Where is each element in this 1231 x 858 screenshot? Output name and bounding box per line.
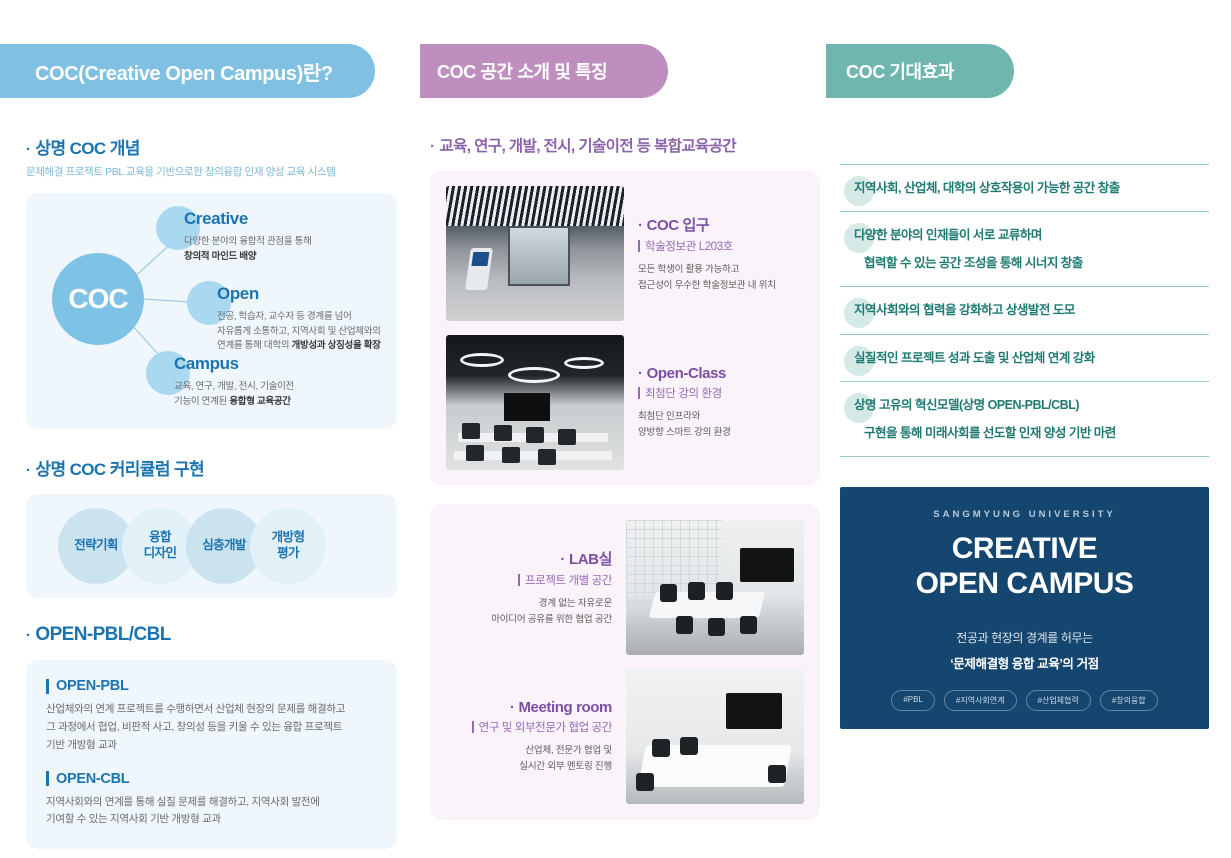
bullet-icon: ·: [510, 699, 515, 716]
meeting-subtitle-row: 연구 및 외부전문가 협업 공간: [446, 719, 612, 735]
ring-light: [508, 367, 560, 383]
promo-subtitle-line2: ‘문제해결형 융합 교육’의 거점: [950, 653, 1099, 672]
chair: [740, 616, 757, 634]
entrance-caption: · COC 입구 학술정보관 L203호 모든 학생이 활용 가능하고 접근성이…: [638, 214, 804, 293]
display-screen: [740, 548, 794, 582]
lab-title: LAB실: [569, 548, 612, 569]
open-class-subtitle: 최첨단 강의 환경: [645, 385, 722, 401]
curriculum-circle-4: 개방형평가: [250, 508, 326, 584]
open-desc-line3-prefix: 연계를 통해 대학의: [217, 340, 292, 351]
chair: [716, 582, 733, 600]
lab-desc: 경계 없는 자유로운 아이디어 공유를 위한 협업 공간: [446, 596, 612, 627]
curriculum-label-2: 융합디자인: [144, 530, 177, 561]
space-item-open-class: · Open-Class 최첨단 강의 환경 최첨단 인프라와 양방향 스마트 …: [446, 335, 804, 470]
curriculum-section-title: · 상명 COC 커리큘럼 구현: [26, 455, 397, 480]
meeting-subtitle: 연구 및 외부전문가 협업 공간: [479, 719, 612, 735]
middle-column-body: · 교육, 연구, 개발, 전시, 기술이전 등 복합교육공간 · COC 입구: [420, 134, 820, 820]
effect-line: 구현을 통해 미래사회를 선도할 인재 양성 기반 마련: [854, 424, 1203, 442]
pbl-title-text: OPEN-PBL/CBL: [35, 624, 170, 646]
vertical-bar-icon: [46, 771, 49, 786]
lab-desc-line1: 경계 없는 자유로운: [539, 598, 612, 609]
promo-title: CREATIVE OPEN CAMPUS: [916, 532, 1134, 602]
space-section-title-text: 교육, 연구, 개발, 전시, 기술이전 등 복합교육공간: [439, 134, 736, 156]
campus-desc-line1: 교육, 연구, 개발, 전시, 기술이전: [174, 381, 294, 392]
vertical-bar-icon: [638, 387, 640, 399]
promo-university-name: SANGMYUNG UNIVERSITY: [933, 509, 1115, 520]
chair: [660, 584, 677, 602]
open-desc-line3-bold: 개방성과 상징성을 확장: [292, 340, 381, 351]
ring-light: [564, 357, 604, 369]
pbl-card: OPEN-PBL 산업체와의 연계 프로젝트를 수행하면서 산업체 현장의 문제…: [26, 660, 397, 849]
open-class-photo: [446, 335, 624, 470]
glass-door: [508, 226, 570, 286]
promo-card: SANGMYUNG UNIVERSITY CREATIVE OPEN CAMPU…: [840, 487, 1209, 729]
open-desc-line2: 자유롭게 소통하고, 지역사회 및 산업체와의: [217, 326, 381, 337]
chair: [466, 445, 484, 461]
open-class-caption: · Open-Class 최첨단 강의 환경 최첨단 인프라와 양방향 스마트 …: [638, 365, 804, 440]
vertical-bar-icon: [638, 240, 640, 252]
chair: [688, 582, 705, 600]
effect-line: 지역사회, 산업체, 대학의 상호작용이 가능한 공간 창출: [854, 179, 1203, 197]
concept-diagram-card: COC Creative 다양한 분야의 융합적 관점을 통해 창의적 마인드 …: [26, 193, 397, 429]
space-card-1: · COC 입구 학술정보관 L203호 모든 학생이 활용 가능하고 접근성이…: [430, 170, 820, 486]
vertical-bar-icon: [46, 679, 49, 694]
pbl-block-2-title: OPEN-CBL: [56, 771, 129, 787]
effect-line: 상명 고유의 혁신모델(상명 OPEN-PBL/CBL): [854, 396, 1203, 414]
effect-item: 지역사회, 산업체, 대학의 상호작용이 가능한 공간 창출: [840, 165, 1209, 212]
pbl-b1-line1: 산업체와의 연계 프로젝트를 수행하면서 산업체 현장의 문제를 해결하고: [46, 703, 345, 715]
pbl-block-1-heading: OPEN-PBL: [46, 678, 377, 694]
bullet-icon: ·: [638, 365, 643, 382]
chair: [768, 765, 786, 783]
pbl-b1-line2: 그 과정에서 협업, 비판적 사고, 창의성 등을 키울 수 있는 융합 프로젝…: [46, 721, 342, 733]
entrance-title-row: · COC 입구: [638, 214, 804, 235]
pbl-block-1-title: OPEN-PBL: [56, 678, 129, 694]
meeting-room-photo: [626, 669, 804, 804]
promo-title-line2: OPEN CAMPUS: [916, 567, 1134, 600]
chair: [676, 616, 693, 634]
bullet-icon: ·: [430, 139, 434, 154]
entrance-title: COC 입구: [647, 214, 710, 235]
effect-item: 다양한 분야의 인재들이 서로 교류하며 협력할 수 있는 공간 조성을 통해 …: [840, 212, 1209, 287]
column-left: COC(Creative Open Campus)란? · 상명 COC 개념 …: [0, 0, 415, 858]
effect-line: 다양한 분야의 인재들이 서로 교류하며: [854, 226, 1203, 244]
expected-effects-list: 지역사회, 산업체, 대학의 상호작용이 가능한 공간 창출 다양한 분야의 인…: [840, 164, 1209, 457]
effect-item: 지역사회와의 협력을 강화하고 상생발전 도모: [840, 287, 1209, 334]
pbl-block-2: OPEN-CBL 지역사회와의 연계를 통해 실질 문제를 해결하고, 지역사회…: [46, 771, 377, 830]
bullet-icon: ·: [26, 142, 30, 157]
effect-line: 실질적인 프로젝트 성과 도출 및 산업체 연계 강화: [854, 349, 1203, 367]
chair: [502, 447, 520, 463]
entrance-desc: 모든 학생이 활용 가능하고 접근성이 우수한 학술정보관 내 위치: [638, 262, 804, 293]
infographic-page: COC(Creative Open Campus)란? · 상명 COC 개념 …: [0, 0, 1231, 858]
promo-title-line1: CREATIVE: [952, 532, 1097, 565]
pbl-block-2-text: 지역사회와의 연계를 통해 실질 문제를 해결하고, 지역사회 발전에 기여할 …: [46, 794, 377, 830]
open-node-label: Open: [217, 284, 259, 304]
curriculum-label-4: 개방형평가: [272, 530, 305, 561]
promo-tag: #창의융합: [1100, 690, 1158, 711]
space-item-entrance: · COC 입구 학술정보관 L203호 모든 학생이 활용 가능하고 접근성이…: [446, 186, 804, 321]
curriculum-title-text: 상명 COC 커리큘럼 구현: [35, 455, 204, 480]
pbl-b1-line3: 기반 개방형 교과: [46, 739, 117, 751]
open-class-desc: 최첨단 인프라와 양방향 스마트 강의 환경: [638, 409, 804, 440]
effect-line: 협력할 수 있는 공간 조성을 통해 시너지 창출: [854, 254, 1203, 272]
lab-room-photo: [626, 520, 804, 655]
pbl-block-1-text: 산업체와의 연계 프로젝트를 수행하면서 산업체 현장의 문제를 해결하고 그 …: [46, 701, 377, 755]
spacer: [446, 321, 804, 335]
entrance-subtitle-row: 학술정보관 L203호: [638, 238, 804, 254]
coc-venn-diagram: COC Creative 다양한 분야의 융합적 관점을 통해 창의적 마인드 …: [26, 193, 397, 429]
ceiling-slats: [446, 186, 624, 226]
bullet-icon: ·: [638, 217, 643, 234]
chair: [558, 429, 576, 445]
chair: [494, 425, 512, 441]
promo-tag: #산업체협력: [1026, 690, 1091, 711]
open-desc-line1: 전공, 학습자, 교수자 등 경계를 넘어: [217, 311, 352, 322]
creative-desc-line1: 다양한 분야의 융합적 관점을 통해: [184, 236, 312, 247]
vertical-bar-icon: [518, 574, 520, 586]
lab-caption: · LAB실 프로젝트 개별 공간 경계 없는 자유로운 아이디어 공유를 위한…: [446, 548, 612, 627]
concept-subtitle: 문제해결 프로젝트 PBL 교육을 기반으로한 창의융합 인재 양성 교육 시스…: [26, 164, 397, 179]
spacer: [46, 755, 377, 771]
left-column-header: COC(Creative Open Campus)란?: [0, 44, 375, 98]
chair: [708, 618, 725, 636]
open-class-subtitle-row: 최첨단 강의 환경: [638, 385, 804, 401]
left-column-body: · 상명 COC 개념 문제해결 프로젝트 PBL 교육을 기반으로한 창의융합…: [0, 134, 415, 849]
pbl-b2-line1: 지역사회와의 연계를 통해 실질 문제를 해결하고, 지역사회 발전에: [46, 796, 320, 808]
kiosk: [465, 248, 493, 290]
meeting-title-row: · Meeting room: [446, 699, 612, 716]
bullet-icon: ·: [560, 551, 565, 568]
open-class-title: Open-Class: [647, 365, 726, 382]
display-screen: [504, 393, 550, 421]
bullet-icon: ·: [26, 463, 30, 478]
column-middle: COC 공간 소개 및 특징 · 교육, 연구, 개발, 전시, 기술이전 등 …: [420, 0, 820, 858]
meeting-title: Meeting room: [518, 699, 612, 716]
promo-subtitle-line1: 전공과 현장의 경계를 허무는: [956, 629, 1092, 646]
promo-tag-list: #PBL #지역사회연계 #산업체협력 #창의융합: [891, 690, 1157, 711]
space-item-lab: · LAB실 프로젝트 개별 공간 경계 없는 자유로운 아이디어 공유를 위한…: [446, 520, 804, 655]
column-right: COC 기대효과 지역사회, 산업체, 대학의 상호작용이 가능한 공간 창출 …: [826, 0, 1231, 858]
campus-desc-line2-prefix: 기능이 연계된: [174, 396, 229, 407]
creative-desc-line2: 창의적 마인드 배양: [184, 251, 256, 262]
open-node-desc: 전공, 학습자, 교수자 등 경계를 넘어 자유롭게 소통하고, 지역사회 및 …: [217, 310, 381, 354]
pbl-block-2-heading: OPEN-CBL: [46, 771, 377, 787]
vertical-bar-icon: [472, 721, 474, 733]
middle-column-header: COC 공간 소개 및 특징: [420, 44, 668, 98]
ring-light: [460, 353, 504, 367]
space-section-title: · 교육, 연구, 개발, 전시, 기술이전 등 복합교육공간: [430, 134, 820, 156]
chair: [680, 737, 698, 755]
promo-tag: #지역사회연계: [944, 690, 1017, 711]
space-card-2: · LAB실 프로젝트 개별 공간 경계 없는 자유로운 아이디어 공유를 위한…: [430, 504, 820, 820]
space-item-meeting: · Meeting room 연구 및 외부전문가 협업 공간 산업체, 전문가…: [446, 669, 804, 804]
campus-desc-line2-bold: 융합형 교육공간: [229, 396, 290, 407]
coc-center-circle: COC: [52, 253, 144, 345]
meeting-desc-line1: 산업체, 전문가 협업 및: [525, 745, 612, 756]
spacer: [446, 655, 804, 669]
lab-desc-line2: 아이디어 공유를 위한 협업 공간: [491, 614, 612, 625]
meeting-desc-line2: 실시간 외부 멘토링 진행: [519, 761, 612, 772]
right-column-body: 지역사회, 산업체, 대학의 상호작용이 가능한 공간 창출 다양한 분야의 인…: [826, 164, 1231, 729]
promo-tag: #PBL: [891, 690, 935, 711]
concept-section-title: · 상명 COC 개념: [26, 134, 397, 159]
pbl-block-1: OPEN-PBL 산업체와의 연계 프로젝트를 수행하면서 산업체 현장의 문제…: [46, 678, 377, 755]
chair: [462, 423, 480, 439]
entrance-subtitle: 학술정보관 L203호: [645, 238, 733, 254]
campus-node-desc: 교육, 연구, 개발, 전시, 기술이전 기능이 연계된 융합형 교육공간: [174, 380, 294, 409]
creative-node-label: Creative: [184, 209, 248, 229]
open-class-desc-line2: 양방향 스마트 강의 환경: [638, 427, 731, 438]
pbl-b2-line2: 기여할 수 있는 지역사회 기반 개방형 교과: [46, 813, 221, 825]
curriculum-card: 전략기획 융합디자인 심층개발 개방형평가: [26, 494, 397, 598]
lab-title-row: · LAB실: [446, 548, 612, 569]
open-class-desc-line1: 최첨단 인프라와: [638, 411, 700, 422]
chair: [636, 773, 654, 791]
lab-subtitle: 프로젝트 개별 공간: [525, 572, 612, 588]
pbl-section-title: · OPEN-PBL/CBL: [26, 624, 397, 646]
bullet-icon: ·: [26, 628, 30, 643]
open-class-title-row: · Open-Class: [638, 365, 804, 382]
coc-entrance-photo: [446, 186, 624, 321]
concept-title-text: 상명 COC 개념: [35, 134, 139, 159]
meeting-caption: · Meeting room 연구 및 외부전문가 협업 공간 산업체, 전문가…: [446, 699, 612, 774]
campus-node-label: Campus: [174, 354, 239, 374]
lab-subtitle-row: 프로젝트 개별 공간: [446, 572, 612, 588]
entrance-desc-line1: 모든 학생이 활용 가능하고: [638, 264, 739, 275]
curriculum-label-1: 전략기획: [74, 538, 118, 554]
chair: [538, 449, 556, 465]
right-column-header: COC 기대효과: [826, 44, 1014, 98]
chair: [526, 427, 544, 443]
effect-item: 실질적인 프로젝트 성과 도출 및 산업체 연계 강화: [840, 335, 1209, 382]
curriculum-label-3: 심층개발: [202, 538, 246, 554]
creative-node-desc: 다양한 분야의 융합적 관점을 통해 창의적 마인드 배양: [184, 235, 312, 264]
entrance-desc-line2: 접근성이 우수한 학술정보관 내 위치: [638, 280, 776, 291]
display-screen: [726, 693, 782, 729]
effect-line: 지역사회와의 협력을 강화하고 상생발전 도모: [854, 301, 1203, 319]
effect-item: 상명 고유의 혁신모델(상명 OPEN-PBL/CBL) 구현을 통해 미래사회…: [840, 382, 1209, 457]
meeting-desc: 산업체, 전문가 협업 및 실시간 외부 멘토링 진행: [446, 743, 612, 774]
chair: [652, 739, 670, 757]
promo-subtitle-line2-text: ‘문제해결형 융합 교육’의 거점: [950, 657, 1099, 671]
